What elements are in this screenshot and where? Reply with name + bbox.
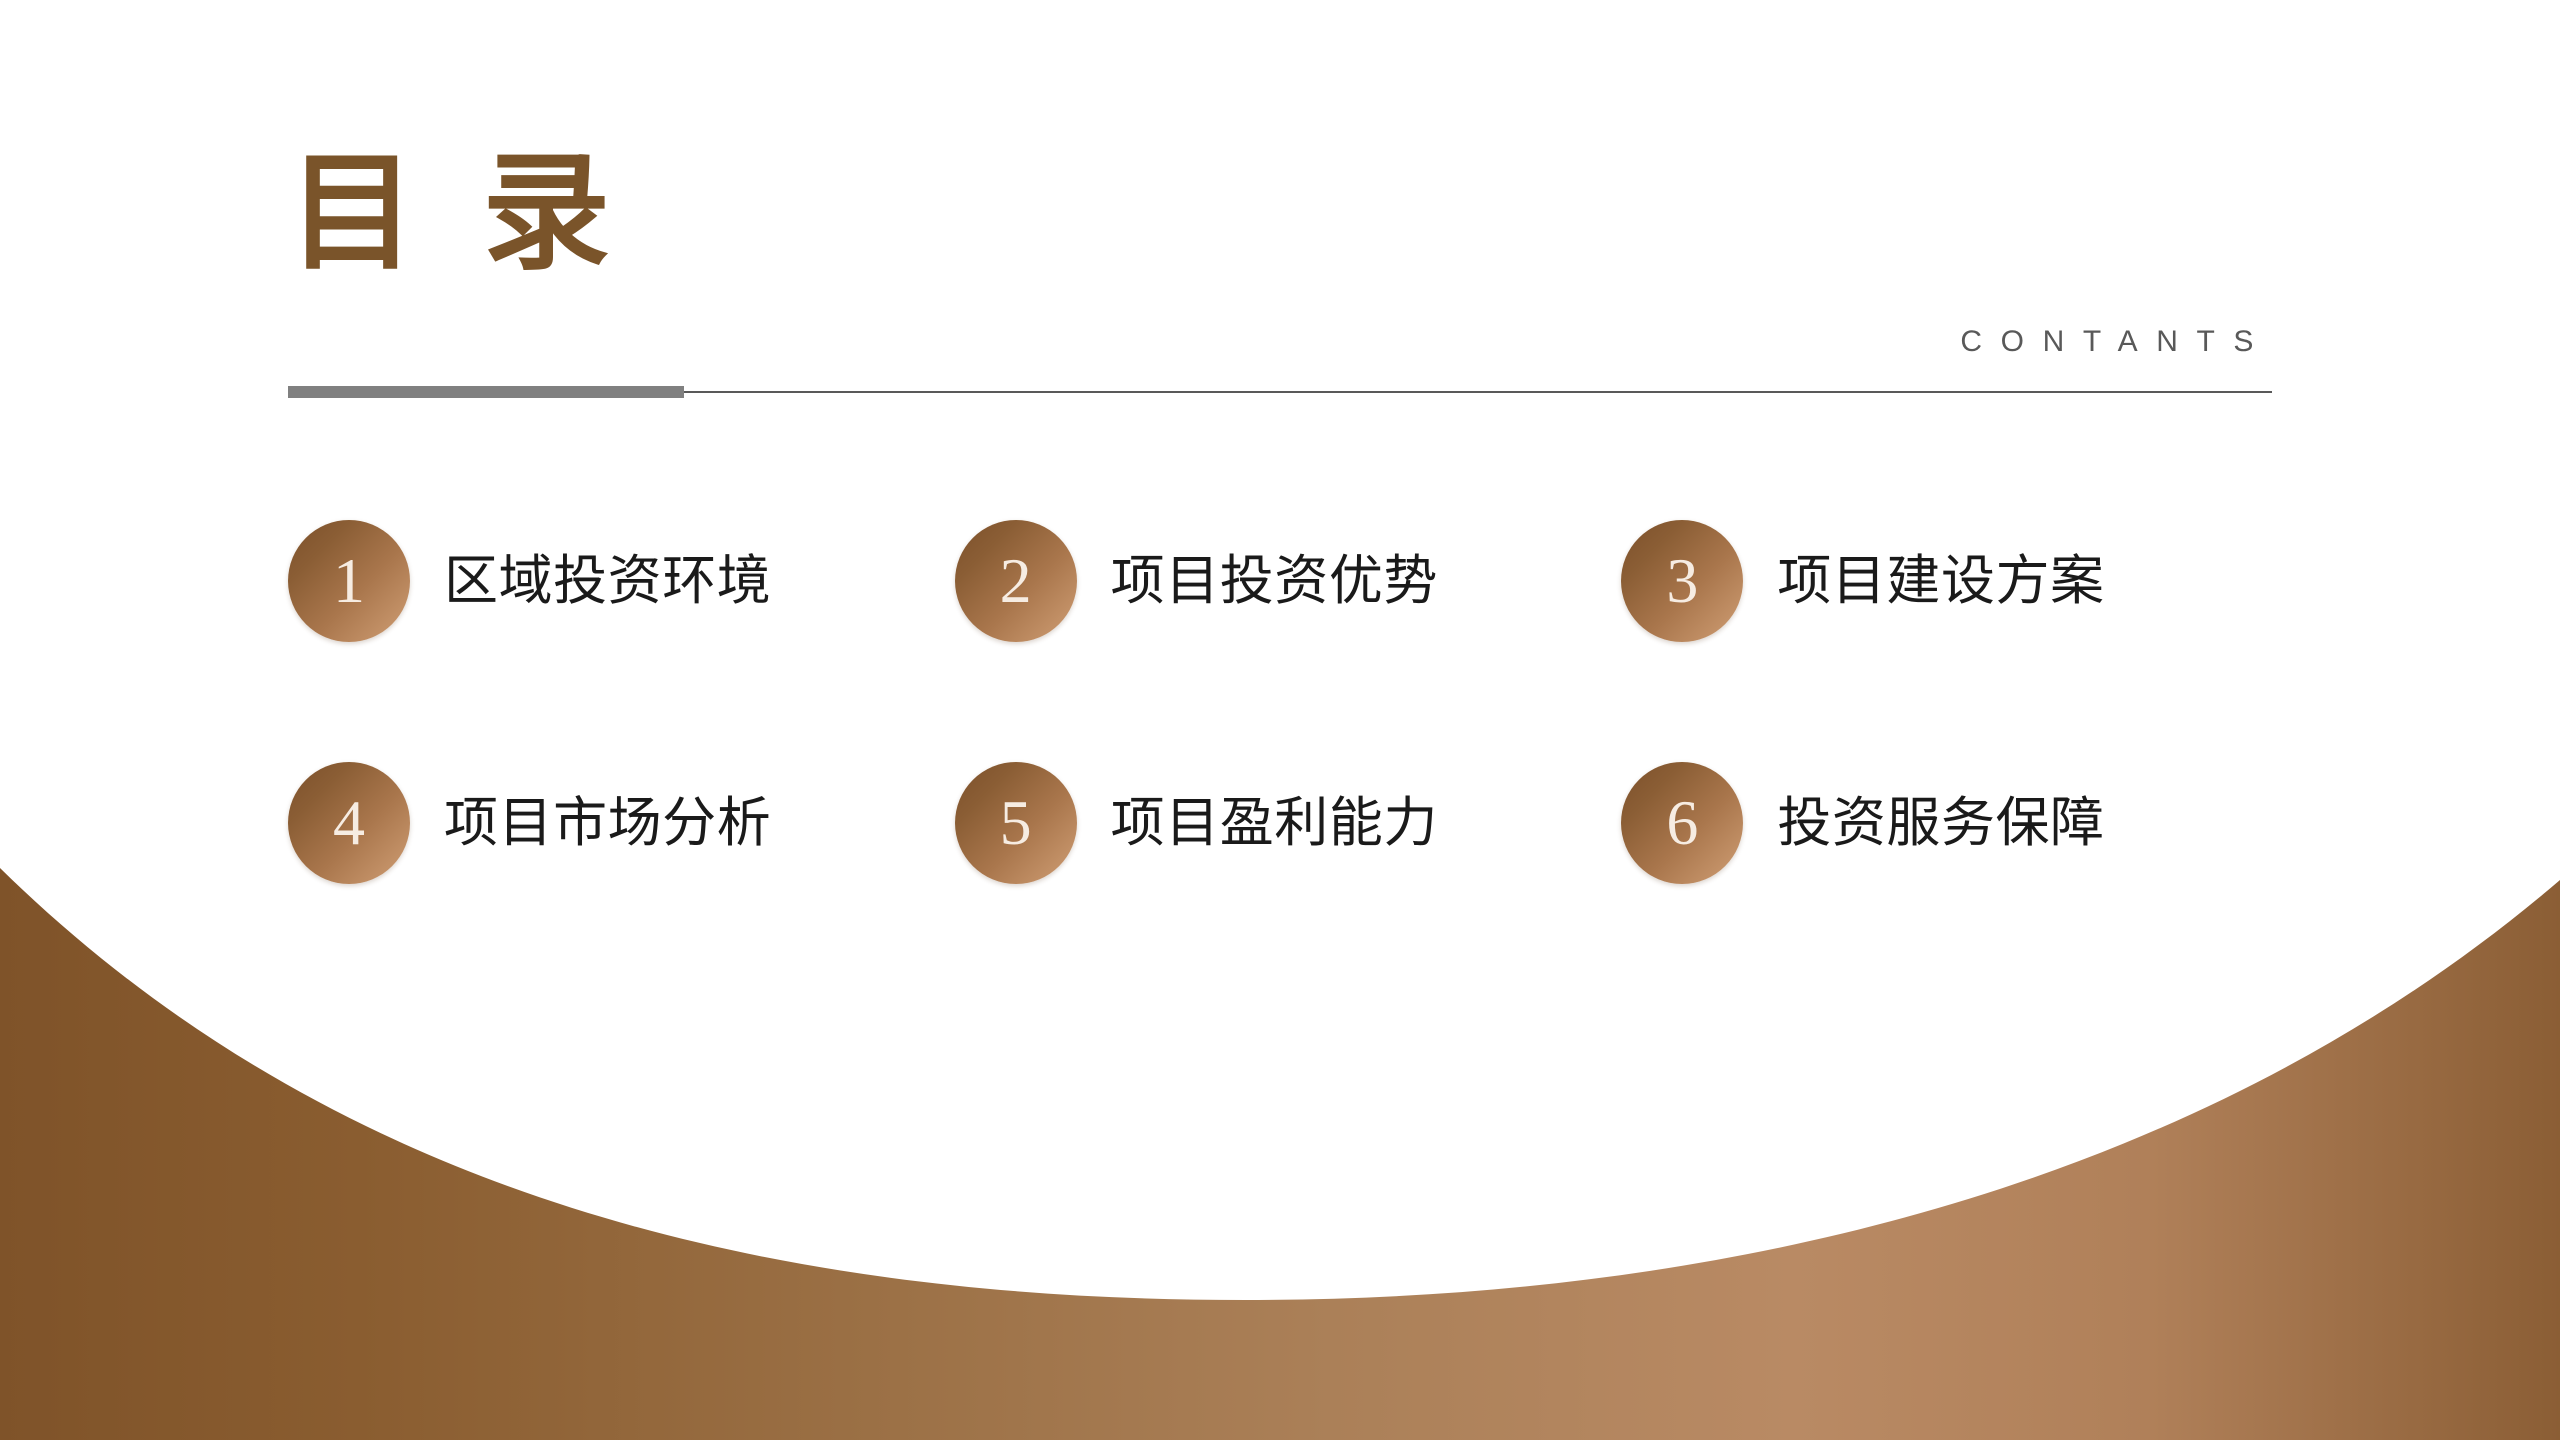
number-badge-1: 1 [288,520,410,642]
number-badge-3: 3 [1621,520,1743,642]
item-label: 区域投资环境 [444,550,771,612]
item-number: 3 [1666,549,1698,613]
contents-item-2[interactable]: 2 项目投资优势 [955,520,1622,642]
page-title: 目 录 [288,150,626,278]
presentation-slide: 目 录 CONTANTS 1 区域投资环境 2 项目投资优势 3 项目建设方案 [0,0,2560,1440]
contents-item-3[interactable]: 3 项目建设方案 [1621,520,2288,642]
contents-grid: 1 区域投资环境 2 项目投资优势 3 项目建设方案 4 项目市场分析 5 [288,520,2288,884]
item-number: 4 [333,791,365,855]
number-badge-5: 5 [955,762,1077,884]
number-badge-6: 6 [1621,762,1743,884]
number-badge-2: 2 [955,520,1077,642]
item-number: 5 [1000,791,1032,855]
item-label: 项目投资优势 [1111,550,1438,612]
contents-item-5[interactable]: 5 项目盈利能力 [955,762,1622,884]
item-label: 项目市场分析 [444,792,771,854]
item-label: 投资服务保障 [1777,792,2104,854]
subtitle-contants: CONTANTS [1960,325,2272,359]
slide-header: 目 录 CONTANTS [288,150,2272,410]
item-label: 项目盈利能力 [1111,792,1438,854]
header-divider [288,386,2272,398]
item-number: 1 [333,549,365,613]
contents-item-4[interactable]: 4 项目市场分析 [288,762,955,884]
contents-item-1[interactable]: 1 区域投资环境 [288,520,955,642]
divider-thin-segment [684,391,2272,393]
item-number: 6 [1666,791,1698,855]
contents-item-6[interactable]: 6 投资服务保障 [1621,762,2288,884]
number-badge-4: 4 [288,762,410,884]
item-label: 项目建设方案 [1777,550,2104,612]
item-number: 2 [1000,549,1032,613]
divider-thick-segment [288,386,684,398]
